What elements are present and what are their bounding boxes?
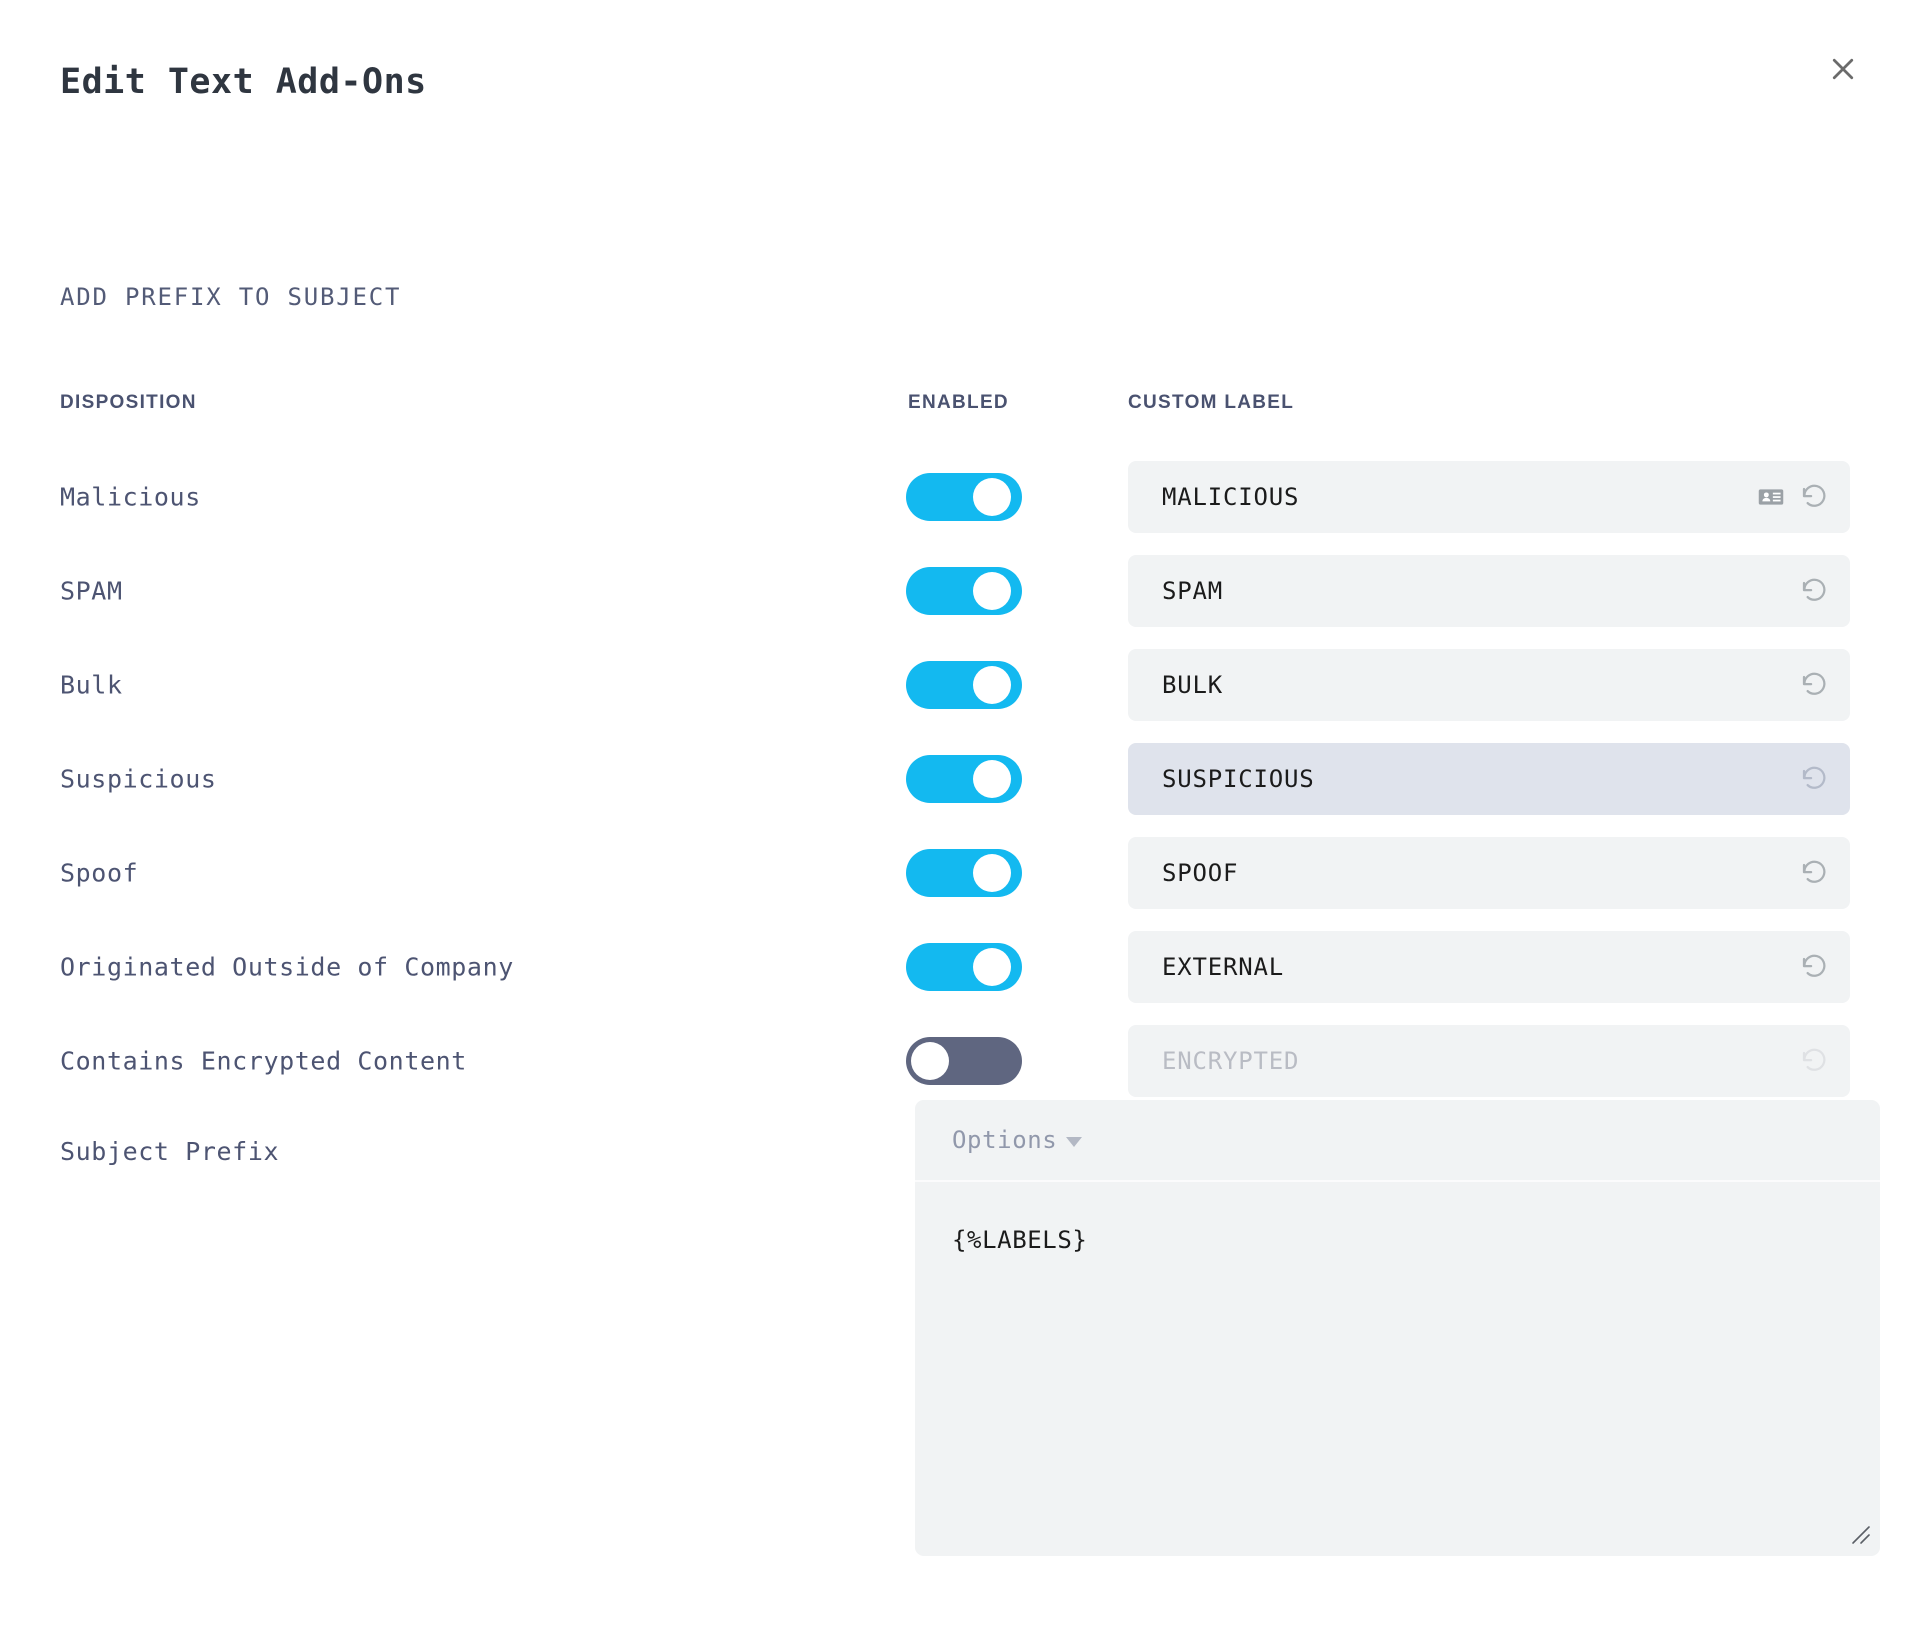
- toggle-knob: [973, 666, 1011, 704]
- disposition-label: Spoof: [60, 859, 138, 888]
- disposition-label: Suspicious: [60, 765, 217, 794]
- field-icon-group: [1798, 762, 1832, 796]
- toggle-knob: [911, 1042, 949, 1080]
- enabled-toggle[interactable]: [906, 755, 1022, 803]
- custom-label-input[interactable]: SUSPICIOUS: [1128, 743, 1850, 815]
- custom-label-value: SPAM: [1162, 577, 1798, 605]
- custom-label-value: SUSPICIOUS: [1162, 765, 1798, 793]
- custom-label-input[interactable]: MALICIOUS: [1128, 461, 1850, 533]
- reset-icon: [1798, 1044, 1832, 1078]
- column-header-disposition: DISPOSITION: [60, 392, 197, 414]
- close-button[interactable]: [1816, 42, 1870, 96]
- subject-prefix-label: Subject Prefix: [60, 1137, 279, 1166]
- table-row: BulkBULK: [0, 638, 1908, 732]
- custom-label-value: MALICIOUS: [1162, 483, 1754, 511]
- contact-card-icon[interactable]: [1754, 480, 1788, 514]
- custom-label-value: SPOOF: [1162, 859, 1798, 887]
- options-label: Options: [952, 1126, 1057, 1154]
- field-icon-group: [1798, 574, 1832, 608]
- custom-label-value: ENCRYPTED: [1162, 1047, 1798, 1075]
- section-title: ADD PREFIX TO SUBJECT: [60, 283, 401, 311]
- editor-body[interactable]: {%LABELS}: [915, 1182, 1880, 1554]
- disposition-label: Malicious: [60, 483, 201, 512]
- field-icon-group: [1798, 950, 1832, 984]
- enabled-toggle[interactable]: [906, 1037, 1022, 1085]
- close-icon: [1828, 54, 1858, 84]
- toggle-knob: [973, 760, 1011, 798]
- field-icon-group: [1798, 668, 1832, 702]
- reset-icon[interactable]: [1798, 574, 1832, 608]
- custom-label-input[interactable]: EXTERNAL: [1128, 931, 1850, 1003]
- toggle-knob: [973, 948, 1011, 986]
- reset-icon[interactable]: [1798, 668, 1832, 702]
- table-row: MaliciousMALICIOUS: [0, 450, 1908, 544]
- custom-label-input[interactable]: ENCRYPTED: [1128, 1025, 1850, 1097]
- edit-text-addons-dialog: Edit Text Add-Ons ADD PREFIX TO SUBJECT …: [0, 0, 1908, 1650]
- table-row: SPAMSPAM: [0, 544, 1908, 638]
- resize-handle-icon[interactable]: [1850, 1524, 1872, 1546]
- custom-label-input[interactable]: SPAM: [1128, 555, 1850, 627]
- field-icon-group: [1798, 1044, 1832, 1078]
- disposition-label: Originated Outside of Company: [60, 953, 514, 982]
- subject-prefix-editor: Options {%LABELS}: [915, 1100, 1880, 1556]
- field-icon-group: [1754, 480, 1832, 514]
- enabled-toggle[interactable]: [906, 567, 1022, 615]
- column-header-enabled: ENABLED: [908, 392, 1009, 414]
- reset-icon[interactable]: [1798, 856, 1832, 890]
- field-icon-group: [1798, 856, 1832, 890]
- table-row: SuspiciousSUSPICIOUS: [0, 732, 1908, 826]
- custom-label-input[interactable]: SPOOF: [1128, 837, 1850, 909]
- toggle-knob: [973, 854, 1011, 892]
- reset-icon[interactable]: [1798, 762, 1832, 796]
- enabled-toggle[interactable]: [906, 661, 1022, 709]
- subject-prefix-textarea[interactable]: {%LABELS}: [952, 1226, 1843, 1254]
- reset-icon[interactable]: [1798, 480, 1832, 514]
- disposition-label: Bulk: [60, 671, 123, 700]
- enabled-toggle[interactable]: [906, 473, 1022, 521]
- custom-label-value: BULK: [1162, 671, 1798, 699]
- toggle-knob: [973, 478, 1011, 516]
- custom-label-value: EXTERNAL: [1162, 953, 1798, 981]
- table-row: Contains Encrypted ContentENCRYPTED: [0, 1014, 1908, 1108]
- toggle-knob: [973, 572, 1011, 610]
- reset-icon[interactable]: [1798, 950, 1832, 984]
- page-title: Edit Text Add-Ons: [60, 62, 427, 102]
- table-row: Originated Outside of CompanyEXTERNAL: [0, 920, 1908, 1014]
- disposition-label: Contains Encrypted Content: [60, 1047, 467, 1076]
- table-row: SpoofSPOOF: [0, 826, 1908, 920]
- enabled-toggle[interactable]: [906, 849, 1022, 897]
- editor-toolbar: Options: [915, 1100, 1880, 1182]
- custom-label-input[interactable]: BULK: [1128, 649, 1850, 721]
- options-dropdown-button[interactable]: Options: [952, 1126, 1082, 1154]
- disposition-label: SPAM: [60, 577, 123, 606]
- chevron-down-icon: [1066, 1137, 1082, 1147]
- column-header-custom-label: CUSTOM LABEL: [1128, 392, 1294, 414]
- enabled-toggle[interactable]: [906, 943, 1022, 991]
